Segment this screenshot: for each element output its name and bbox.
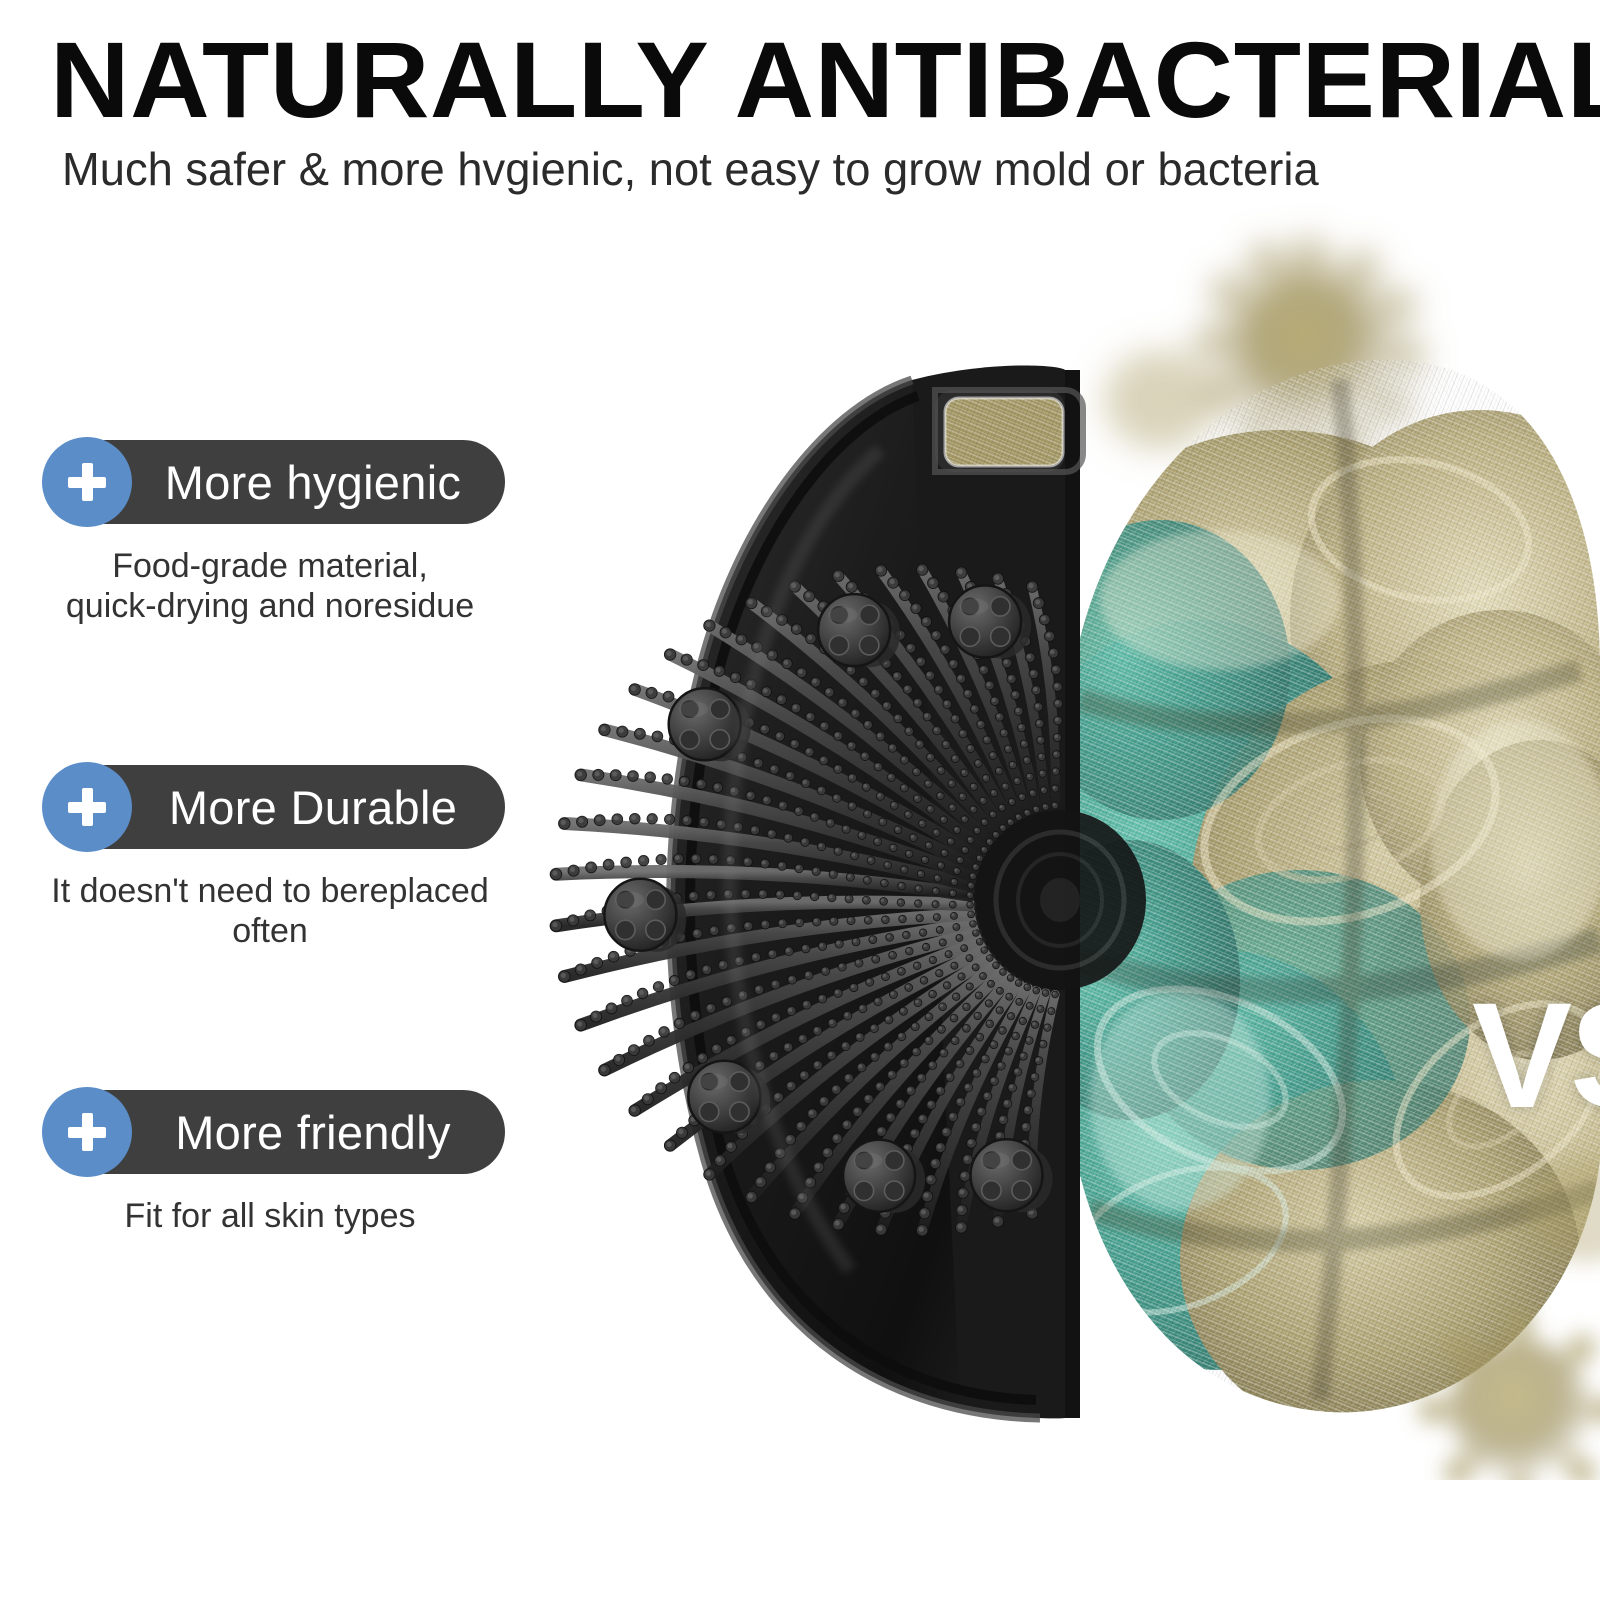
feature-item-more-friendly[interactable]: More friendly Fit for all skin types (0, 1090, 540, 1236)
product-comparison-image: VS (520, 200, 1600, 1480)
feature-description: Fit for all skin types (0, 1196, 540, 1236)
feature-item-more-hygienic[interactable]: More hygienic Food-grade material,quick-… (0, 440, 540, 626)
page-subtitle: Much safer & more hvgienic, not easy to … (62, 144, 1540, 195)
feature-pill[interactable]: More hygienic (45, 440, 505, 524)
feature-label: More friendly (143, 1105, 483, 1160)
vs-label: VS (1450, 980, 1600, 1130)
feature-label: More Durable (143, 780, 483, 835)
page-title: NATURALLY ANTIBACTERIAL (50, 26, 1600, 134)
product-feature-graphic: NATURALLY ANTIBACTERIAL Much safer & mor… (0, 0, 1600, 1600)
feature-label: More hygienic (143, 455, 483, 510)
center-swirl (974, 810, 1146, 990)
feature-pill[interactable]: More friendly (45, 1090, 505, 1174)
plus-icon (42, 437, 132, 527)
plus-icon (42, 1087, 132, 1177)
feature-pill[interactable]: More Durable (45, 765, 505, 849)
hanging-hole (935, 390, 1083, 472)
feature-description: Food-grade material,quick-drying and nor… (0, 546, 540, 626)
silicone-scrubber (550, 366, 1146, 1419)
feature-item-more-durable[interactable]: More Durable It doesn't need to bereplac… (0, 765, 540, 951)
feature-description: It doesn't need to bereplacedoften (0, 871, 540, 951)
plus-icon (42, 762, 132, 852)
